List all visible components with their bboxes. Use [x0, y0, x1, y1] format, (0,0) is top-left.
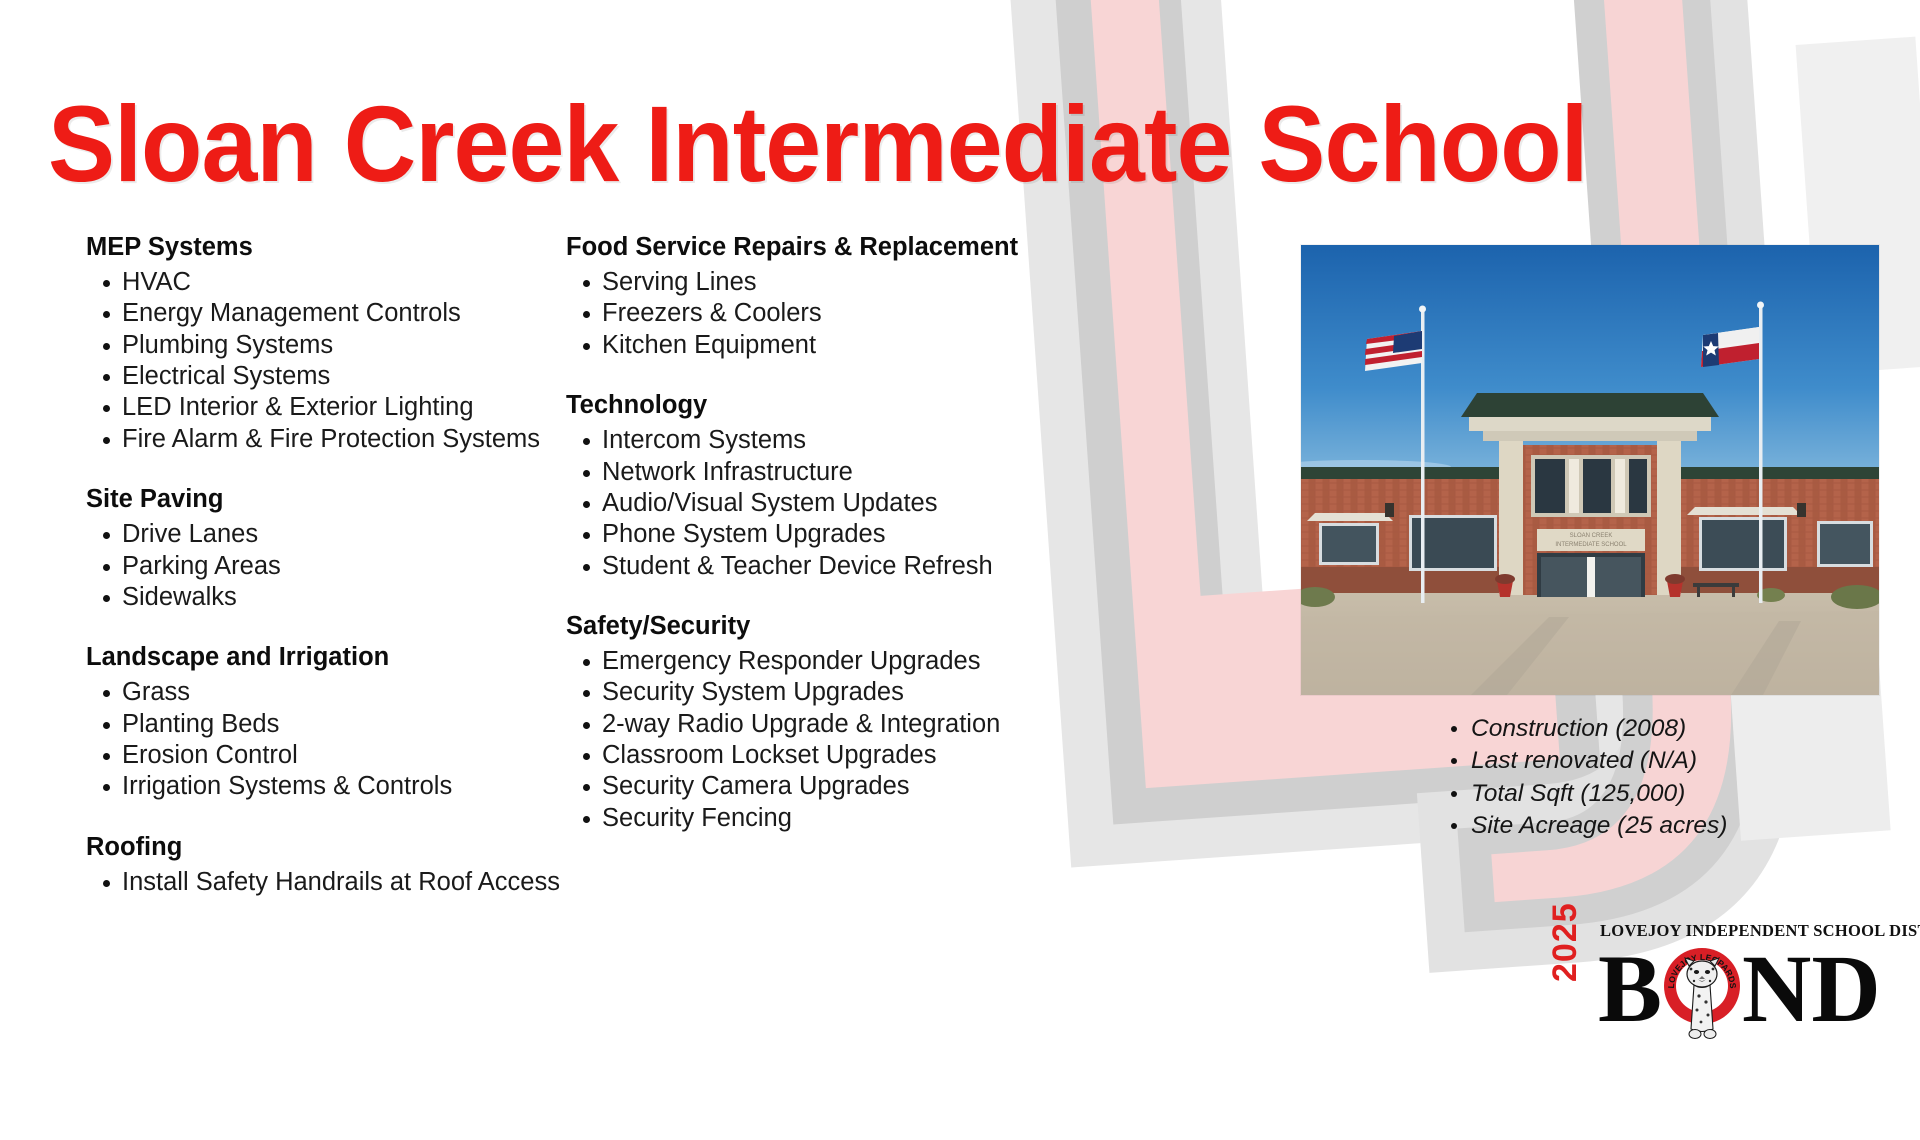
- scope-column-left: MEP Systems HVAC Energy Management Contr…: [86, 232, 556, 898]
- bond-logo: 2025 LOVEJOY INDEPENDENT SCHOOL DISTRICT…: [1548, 921, 1888, 1061]
- group-heading: Food Service Repairs & Replacement: [566, 232, 1036, 263]
- scope-column-middle: Food Service Repairs & Replacement Servi…: [566, 232, 1036, 834]
- list-item: LED Interior & Exterior Lighting: [86, 392, 556, 422]
- group-heading: Safety/Security: [566, 611, 1036, 642]
- list-item: Planting Beds: [86, 709, 556, 739]
- fact-construction: Construction (2008): [1443, 713, 1873, 745]
- scope-group: Technology Intercom Systems Network Infr…: [566, 390, 1036, 581]
- list-item: Parking Areas: [86, 551, 556, 581]
- fact-site-acreage: Site Acreage (25 acres): [1443, 810, 1873, 842]
- group-list: Drive Lanes Parking Areas Sidewalks: [86, 519, 556, 612]
- scope-group: Site Paving Drive Lanes Parking Areas Si…: [86, 484, 556, 612]
- list-item: 2-way Radio Upgrade & Integration: [566, 709, 1036, 739]
- fact-total-sqft: Total Sqft (125,000): [1443, 778, 1873, 810]
- bond-letter-n: N: [1742, 942, 1811, 1036]
- list-item: Grass: [86, 677, 556, 707]
- group-list: Serving Lines Freezers & Coolers Kitchen…: [566, 267, 1036, 360]
- list-item: Install Safety Handrails at Roof Access: [86, 867, 556, 897]
- bond-letter-b: B: [1598, 942, 1662, 1036]
- group-heading: Landscape and Irrigation: [86, 642, 556, 673]
- scope-group: Roofing Install Safety Handrails at Roof…: [86, 832, 556, 897]
- list-item: Irrigation Systems & Controls: [86, 771, 556, 801]
- bond-wordmark: B LOVEJOY LEOPARDS: [1598, 939, 1881, 1039]
- group-list: HVAC Energy Management Controls Plumbing…: [86, 267, 556, 454]
- page-title: Sloan Creek Intermediate School: [48, 90, 1588, 198]
- list-item: Sidewalks: [86, 582, 556, 612]
- list-item: Fire Alarm & Fire Protection Systems: [86, 424, 556, 454]
- leopard-figure: [1678, 952, 1726, 1056]
- list-item: Kitchen Equipment: [566, 330, 1036, 360]
- group-heading: Site Paving: [86, 484, 556, 515]
- scope-group: MEP Systems HVAC Energy Management Contr…: [86, 232, 556, 454]
- scope-group: Landscape and Irrigation Grass Planting …: [86, 642, 556, 801]
- list-item: Audio/Visual System Updates: [566, 488, 1036, 518]
- facility-facts: Construction (2008) Last renovated (N/A)…: [1443, 713, 1873, 842]
- group-list: Install Safety Handrails at Roof Access: [86, 867, 556, 897]
- scope-group: Food Service Repairs & Replacement Servi…: [566, 232, 1036, 360]
- list-item: Security Camera Upgrades: [566, 771, 1036, 801]
- list-item: Phone System Upgrades: [566, 519, 1036, 549]
- photo-sign-line1: SLOAN CREEK: [1570, 533, 1613, 539]
- list-item: Plumbing Systems: [86, 330, 556, 360]
- group-list: Intercom Systems Network Infrastructure …: [566, 425, 1036, 581]
- bond-year-label: 2025: [1548, 876, 1582, 982]
- list-item: Student & Teacher Device Refresh: [566, 551, 1036, 581]
- photo-canopy-roof: [1461, 393, 1719, 417]
- list-item: Freezers & Coolers: [566, 298, 1036, 328]
- scope-group: Safety/Security Emergency Responder Upgr…: [566, 611, 1036, 833]
- list-item: Classroom Lockset Upgrades: [566, 740, 1036, 770]
- leopard-mascot-icon: LOVEJOY LEOPARDS: [1658, 942, 1746, 1036]
- group-list: Emergency Responder Upgrades Security Sy…: [566, 646, 1036, 833]
- list-item: Intercom Systems: [566, 425, 1036, 455]
- list-item: Serving Lines: [566, 267, 1036, 297]
- list-item: Electrical Systems: [86, 361, 556, 391]
- school-photo: SLOAN CREEK INTERMEDIATE SCHOOL: [1301, 245, 1879, 695]
- list-item: HVAC: [86, 267, 556, 297]
- list-item: Network Infrastructure: [566, 457, 1036, 487]
- list-item: Emergency Responder Upgrades: [566, 646, 1036, 676]
- list-item: Energy Management Controls: [86, 298, 556, 328]
- bond-letter-d: D: [1811, 942, 1880, 1036]
- list-item: Erosion Control: [86, 740, 556, 770]
- list-item: Security Fencing: [566, 803, 1036, 833]
- list-item: Drive Lanes: [86, 519, 556, 549]
- list-item: Security System Upgrades: [566, 677, 1036, 707]
- group-heading: MEP Systems: [86, 232, 556, 263]
- group-list: Grass Planting Beds Erosion Control Irri…: [86, 677, 556, 801]
- group-heading: Technology: [566, 390, 1036, 421]
- fact-last-renovated: Last renovated (N/A): [1443, 745, 1873, 777]
- photo-sign-line2: INTERMEDIATE SCHOOL: [1555, 542, 1627, 548]
- facts-list: Construction (2008) Last renovated (N/A)…: [1443, 713, 1873, 842]
- group-heading: Roofing: [86, 832, 556, 863]
